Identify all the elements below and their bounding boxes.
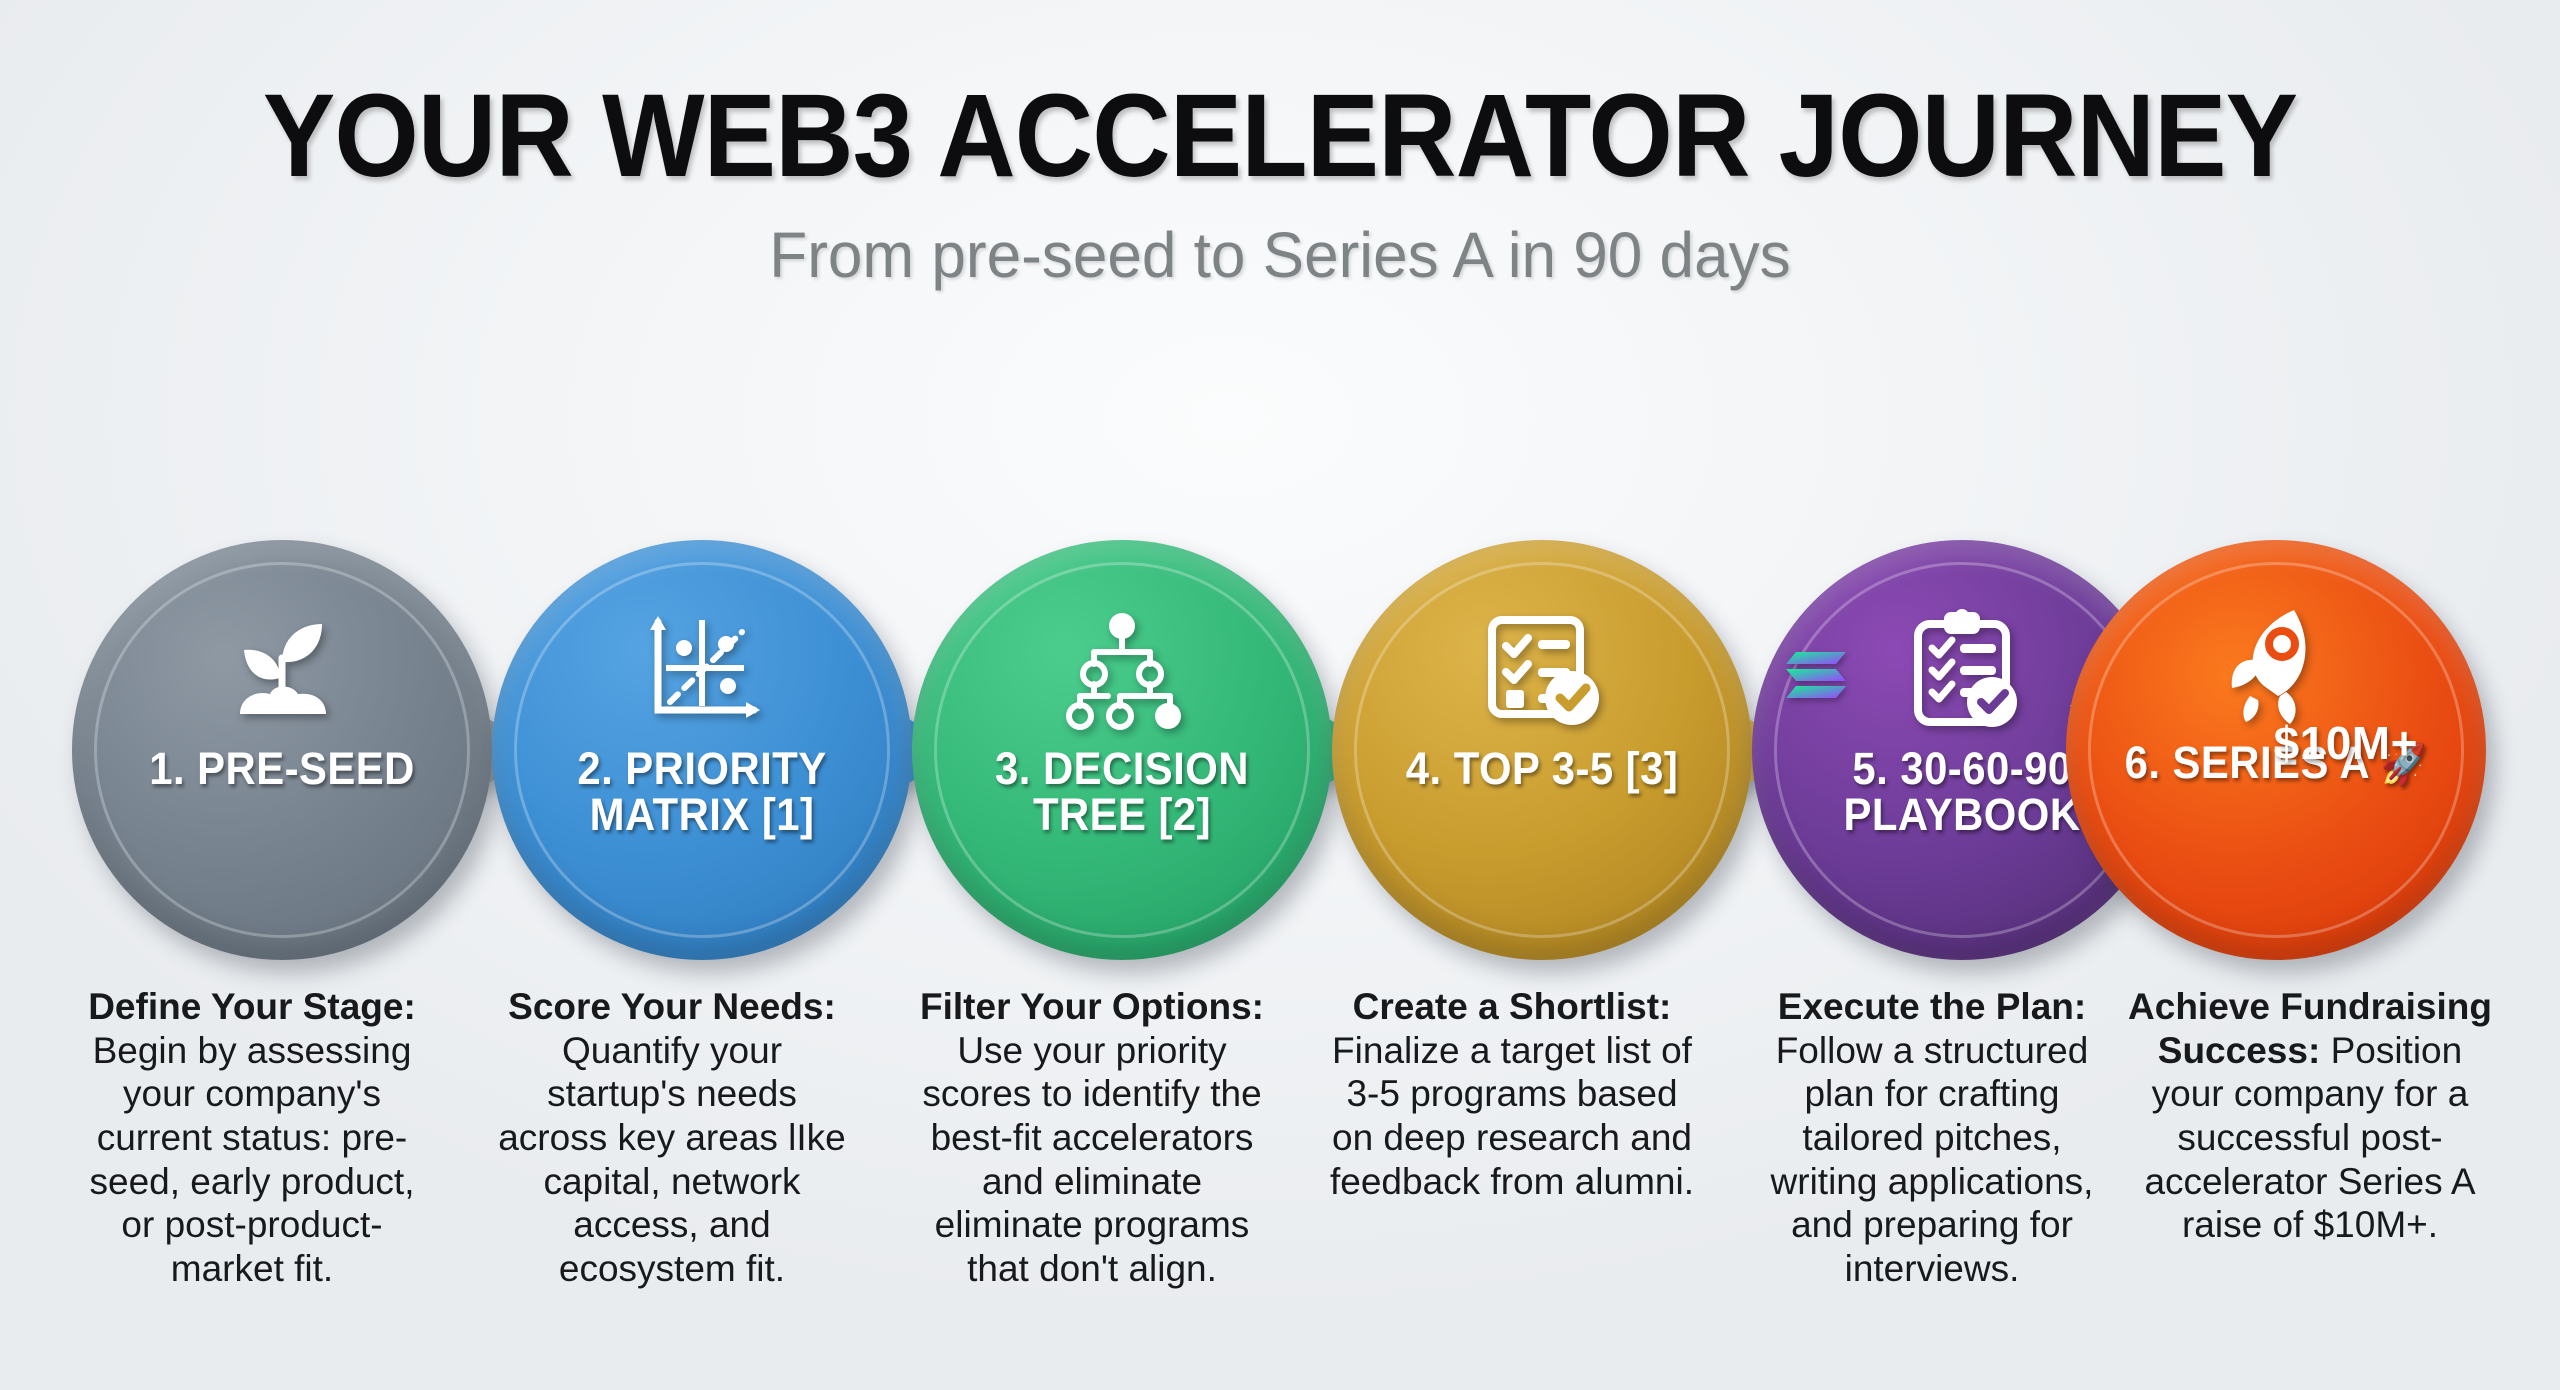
caption-2-title: Score Your Needs: <box>508 986 836 1027</box>
caption-4-body: Finalize a target list of 3-5 programs b… <box>1330 1030 1694 1202</box>
step-2-priority-matrix[interactable]: 2. PRIORITY MATRIX [1] <box>492 540 912 960</box>
step-1-pre-seed[interactable]: 1. PRE-SEED <box>72 540 492 960</box>
caption-5-title: Execute the Plan: <box>1778 986 2086 1027</box>
caption-2: Score Your Needs: Quantify your startup'… <box>488 985 856 1291</box>
step-label-4: 4. TOP 3-5 [3] <box>1389 746 1696 792</box>
journey-flow: 1. PRE-SEED <box>0 540 2560 960</box>
step-circle-4[interactable]: 4. TOP 3-5 [3] <box>1332 540 1752 960</box>
caption-4-title: Create a Shortlist: <box>1353 986 1672 1027</box>
decision-tree-icon <box>1058 606 1186 734</box>
step-label-3: 3. DECISION TREE [2] <box>969 746 1276 839</box>
scatter-matrix-chart-icon <box>638 606 766 734</box>
clipboard-checklist-icon <box>1898 606 2026 734</box>
page-subtitle: From pre-seed to Series A in 90 days <box>38 218 2521 292</box>
caption-2-body: Quantify your startup's needs across key… <box>498 1030 846 1289</box>
caption-6: Achieve Fundraising Success: Position yo… <box>2126 985 2494 1247</box>
caption-3: Filter Your Options: Use your priority s… <box>908 985 1276 1291</box>
step-circle-6[interactable]: $10M+ 6. SERIES A 🚀 <box>2066 540 2486 960</box>
step-label-1: 1. PRE-SEED <box>129 746 436 792</box>
checklist-approved-icon <box>1478 606 1606 734</box>
page-title: YOUR WEB3 ACCELERATOR JOURNEY <box>102 76 2457 196</box>
caption-4: Create a Shortlist: Finalize a target li… <box>1328 985 1696 1203</box>
solana-logo-icon <box>1784 646 1848 704</box>
step-3-decision-tree[interactable]: 3. DECISION TREE [2] <box>912 540 1332 960</box>
step-6-series-a[interactable]: $10M+ 6. SERIES A 🚀 <box>2066 540 2486 960</box>
caption-5-body: Follow a structured plan for crafting ta… <box>1771 1030 2094 1289</box>
caption-1-title: Define Your Stage: <box>88 986 416 1027</box>
caption-1-body: Begin by assessing your company's curren… <box>90 1030 415 1289</box>
step-label-2: 2. PRIORITY MATRIX [1] <box>549 746 856 839</box>
step-circle-3[interactable]: 3. DECISION TREE [2] <box>912 540 1332 960</box>
caption-3-title: Filter Your Options: <box>920 986 1264 1027</box>
step-circle-2[interactable]: 2. PRIORITY MATRIX [1] <box>492 540 912 960</box>
caption-5: Execute the Plan: Follow a structured pl… <box>1748 985 2116 1291</box>
caption-3-body: Use your priority scores to identify the… <box>922 1030 1261 1289</box>
header: YOUR WEB3 ACCELERATOR JOURNEY From pre-s… <box>0 0 2560 292</box>
series-a-amount-badge: $10M+ <box>2274 716 2418 770</box>
sprout-icon <box>218 606 346 734</box>
rocket-icon <box>2212 600 2340 728</box>
infographic-root: YOUR WEB3 ACCELERATOR JOURNEY From pre-s… <box>0 0 2560 1390</box>
step-circle-1[interactable]: 1. PRE-SEED <box>72 540 492 960</box>
step-4-top-3-5[interactable]: 4. TOP 3-5 [3] <box>1332 540 1752 960</box>
caption-1: Define Your Stage: Begin by assessing yo… <box>68 985 436 1291</box>
